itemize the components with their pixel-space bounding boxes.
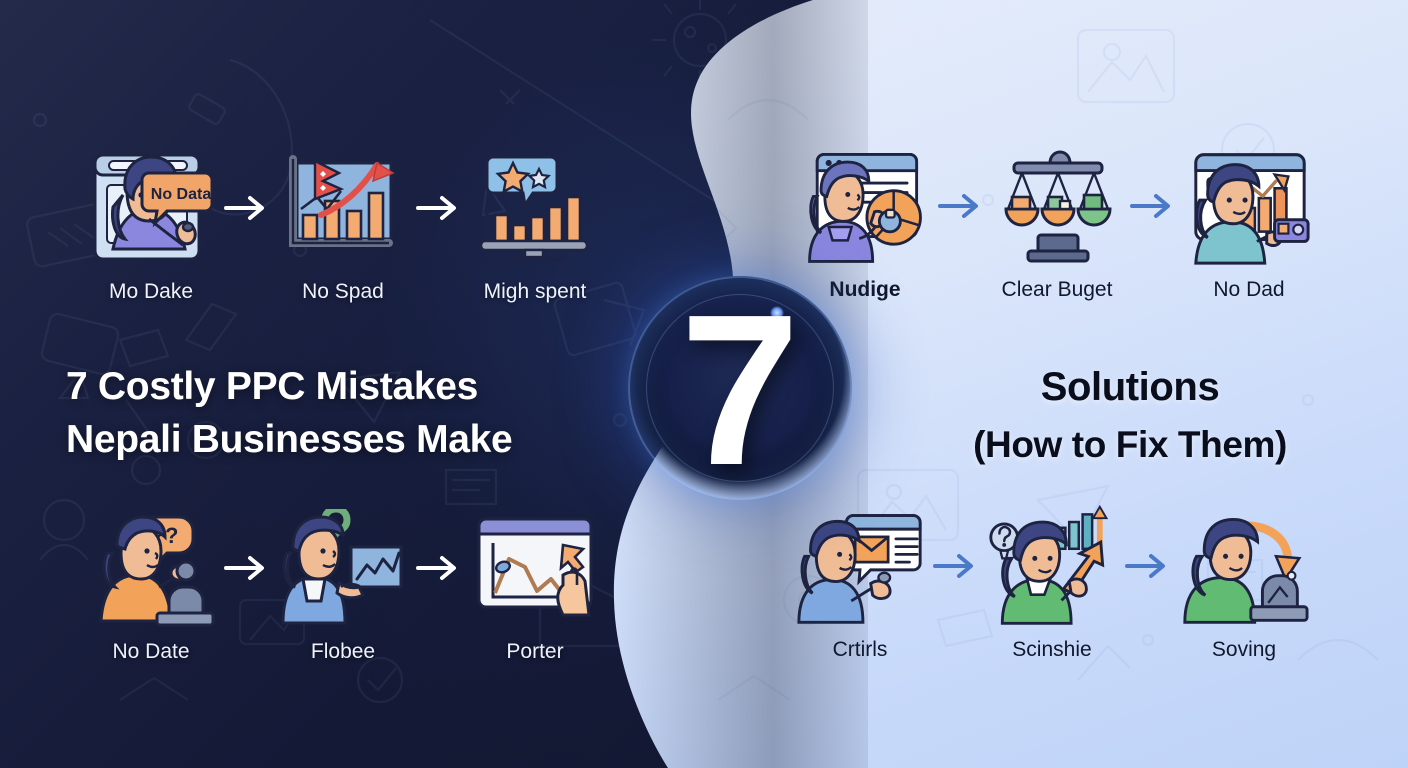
left-bottom-label-1: No Date bbox=[112, 640, 189, 664]
right-bottom-item-2: Scinshie bbox=[987, 506, 1117, 662]
arrow-right-icon bbox=[930, 146, 992, 266]
left-top-item-3: Migh spent bbox=[470, 148, 600, 304]
right-bottom-item-3: Soving bbox=[1179, 506, 1309, 662]
left-bottom-label-2: Flobee bbox=[311, 640, 375, 664]
right-top-label-2: Clear Buget bbox=[1002, 278, 1113, 302]
person-pie-chart-browser-icon bbox=[800, 146, 930, 266]
arrow-right-icon bbox=[216, 148, 278, 268]
person-email-message-icon bbox=[795, 506, 925, 626]
arrow-right-icon bbox=[1117, 506, 1179, 626]
infographic-canvas: No Data Mo Dake bbox=[0, 0, 1408, 768]
person-holding-chart-icon bbox=[278, 508, 408, 628]
left-bottom-item-2: Flobee bbox=[278, 508, 408, 664]
left-top-item-2: No Spad bbox=[278, 148, 408, 304]
left-top-label-2: No Spad bbox=[302, 280, 384, 304]
left-bottom-item-1: ?? No Date bbox=[86, 508, 216, 664]
bar-chart-monitor-stars-icon bbox=[470, 148, 600, 268]
person-question-marks-icon: ?? bbox=[86, 508, 216, 628]
person-growth-dashboard-icon bbox=[1184, 146, 1314, 266]
right-top-icon-row: Nudige bbox=[800, 146, 1314, 302]
right-bottom-label-2: Scinshie bbox=[1012, 638, 1091, 662]
left-top-item-1: No Data Mo Dake bbox=[86, 148, 216, 304]
nepal-flag-growth-chart-icon bbox=[278, 148, 408, 268]
arrow-right-icon bbox=[408, 148, 470, 268]
arrow-right-icon bbox=[408, 508, 470, 628]
right-top-label-3: No Dad bbox=[1213, 278, 1284, 302]
center-seven-medallion: 7 bbox=[620, 268, 860, 518]
right-title-line2: (How to Fix Them) bbox=[880, 416, 1380, 474]
left-top-icon-row: No Data Mo Dake bbox=[86, 148, 600, 304]
arrow-right-icon bbox=[1122, 146, 1184, 266]
person-up-arrow-bars-icon bbox=[987, 506, 1117, 626]
left-title-line2: Nepali Businesses Make bbox=[66, 413, 626, 466]
seven-number: 7 bbox=[620, 264, 860, 514]
right-bottom-label-1: Crtirls bbox=[833, 638, 888, 662]
left-bottom-item-3: Porter bbox=[470, 508, 600, 664]
arrow-right-icon bbox=[925, 506, 987, 626]
right-top-item-2: Clear Buget bbox=[992, 146, 1122, 302]
svg-text:No Data: No Data bbox=[151, 186, 212, 203]
left-title: 7 Costly PPC Mistakes Nepali Businesses … bbox=[66, 360, 626, 466]
left-title-line1: 7 Costly PPC Mistakes bbox=[66, 360, 626, 413]
right-bottom-item-1: Crtirls bbox=[795, 506, 925, 662]
left-bottom-icon-row: ?? No Date bbox=[86, 508, 600, 664]
declining-chart-cursor-icon bbox=[470, 508, 600, 628]
left-top-label-3: Migh spent bbox=[484, 280, 587, 304]
right-top-item-3: No Dad bbox=[1184, 146, 1314, 302]
left-bottom-label-3: Porter bbox=[506, 640, 563, 664]
arrow-right-icon bbox=[216, 508, 278, 628]
right-title-line1: Solutions bbox=[880, 358, 1380, 416]
right-bottom-icon-row: Crtirls bbox=[795, 506, 1309, 662]
left-top-label-1: Mo Dake bbox=[109, 280, 193, 304]
person-down-arrow-podium-icon bbox=[1179, 506, 1309, 626]
right-bottom-label-3: Soving bbox=[1212, 638, 1276, 662]
balance-scales-icon bbox=[992, 146, 1122, 266]
right-title: Solutions (How to Fix Them) bbox=[880, 358, 1380, 474]
person-no-data-icon: No Data bbox=[86, 148, 216, 268]
